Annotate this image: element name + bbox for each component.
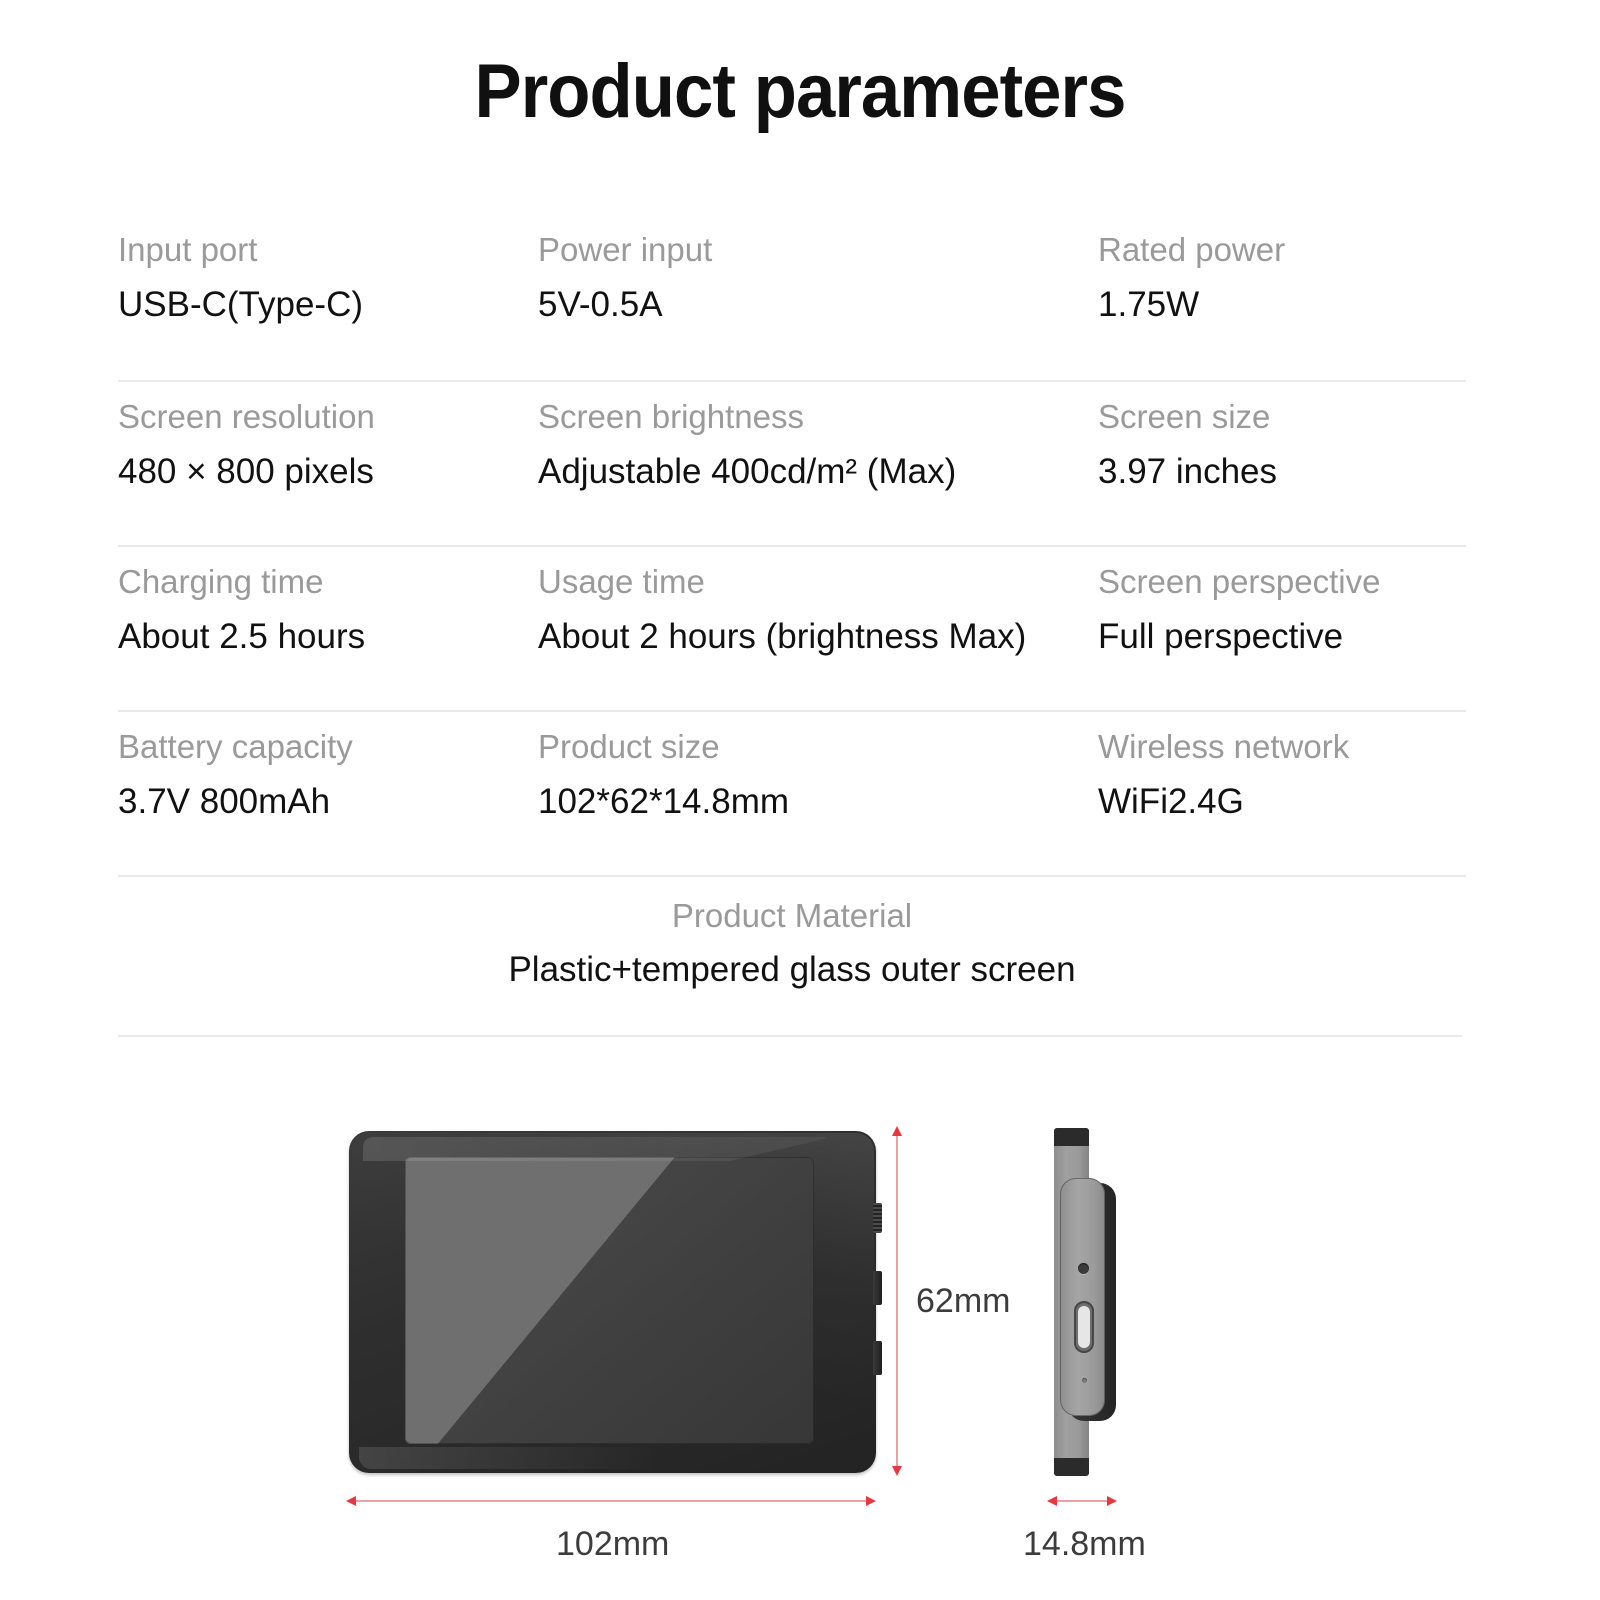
spec-cell-power-input: Power input 5V-0.5A (538, 215, 1098, 380)
table-row: Screen resolution 480 × 800 pixels Scree… (118, 380, 1466, 545)
spec-value: 480 × 800 pixels (118, 454, 538, 489)
spec-value: WiFi2.4G (1098, 784, 1466, 819)
spec-cell-usage-time: Usage time About 2 hours (brightness Max… (538, 547, 1098, 710)
page-title: Product parameters (56, 48, 1544, 135)
spec-cell-screen-brightness: Screen brightness Adjustable 400cd/m² (M… (538, 382, 1098, 545)
spec-label: Product size (538, 730, 1098, 763)
ribbed-button-icon (873, 1203, 882, 1233)
height-dimension-line (896, 1132, 898, 1472)
width-dimension-label: 102mm (556, 1525, 669, 1564)
usb-c-port-icon (1074, 1301, 1094, 1353)
spec-value: 1.75W (1098, 287, 1466, 322)
side-bump (1060, 1178, 1105, 1416)
spec-label: Screen resolution (118, 400, 538, 433)
table-bottom-divider (118, 1035, 1462, 1037)
reset-pinhole-icon (1082, 1378, 1087, 1383)
indicator-hole-icon (1078, 1263, 1089, 1274)
tablet-side-view (1048, 1128, 1120, 1476)
spec-value: About 2 hours (brightness Max) (538, 619, 1098, 654)
depth-dimension-label: 14.8mm (1023, 1525, 1146, 1564)
spec-value: 102*62*14.8mm (538, 784, 1098, 819)
spec-value: About 2.5 hours (118, 619, 538, 654)
height-dimension-arrow-bottom (892, 1466, 902, 1476)
spec-label: Screen perspective (1098, 565, 1466, 598)
spec-label: Screen brightness (538, 400, 1098, 433)
spec-label: Wireless network (1098, 730, 1466, 763)
spec-value: USB-C(Type-C) (118, 287, 538, 322)
spec-cell-rated-power: Rated power 1.75W (1098, 215, 1466, 380)
product-parameters-page: Product parameters Input port USB-C(Type… (0, 0, 1600, 1600)
table-row: Input port USB-C(Type-C) Power input 5V-… (118, 215, 1466, 380)
bottom-bezel-sheen (359, 1447, 659, 1469)
table-row: Charging time About 2.5 hours Usage time… (118, 545, 1466, 710)
spec-cell-charging-time: Charging time About 2.5 hours (118, 547, 538, 710)
spec-cell-input-port: Input port USB-C(Type-C) (118, 215, 538, 380)
spec-label: Screen size (1098, 400, 1466, 433)
spec-label: Input port (118, 233, 538, 266)
spec-cell-battery-capacity: Battery capacity 3.7V 800mAh (118, 712, 538, 875)
spec-value: 5V-0.5A (538, 287, 1098, 322)
spec-value: 3.7V 800mAh (118, 784, 538, 819)
plain-button-icon (873, 1341, 882, 1375)
spec-value: 3.97 inches (1098, 454, 1466, 489)
side-profile-top-cap (1054, 1128, 1089, 1146)
spec-cell-screen-size: Screen size 3.97 inches (1098, 382, 1466, 545)
spec-label: Usage time (538, 565, 1098, 598)
spec-label: Battery capacity (118, 730, 538, 763)
width-dimension-arrow-left (346, 1496, 356, 1506)
depth-dimension-arrow-left (1047, 1496, 1057, 1506)
table-row: Battery capacity 3.7V 800mAh Product siz… (118, 710, 1466, 875)
spec-label: Rated power (1098, 233, 1466, 266)
height-dimension-arrow-top (892, 1126, 902, 1136)
height-dimension-label: 62mm (916, 1282, 1010, 1321)
table-row-product-material: Product Material Plastic+tempered glass … (118, 875, 1466, 1030)
width-dimension-line (352, 1500, 872, 1502)
spec-value: Plastic+tempered glass outer screen (118, 952, 1466, 987)
tablet-screen (405, 1157, 814, 1444)
depth-dimension-line (1053, 1500, 1113, 1502)
spec-label: Power input (538, 233, 1098, 266)
width-dimension-arrow-right (866, 1496, 876, 1506)
spec-value: Full perspective (1098, 619, 1466, 654)
spec-label: Product Material (118, 899, 1466, 932)
side-profile-bottom-cap (1054, 1458, 1089, 1476)
plain-button-icon (873, 1271, 882, 1305)
product-illustration: 62mm 102mm 14.8mm (0, 1100, 1600, 1600)
spec-cell-wireless-network: Wireless network WiFi2.4G (1098, 712, 1466, 875)
usb-c-port-inner (1078, 1306, 1090, 1348)
spec-cell-screen-perspective: Screen perspective Full perspective (1098, 547, 1466, 710)
tablet-front-view (349, 1131, 876, 1473)
spec-cell-product-size: Product size 102*62*14.8mm (538, 712, 1098, 875)
spec-label: Charging time (118, 565, 538, 598)
spec-cell-screen-resolution: Screen resolution 480 × 800 pixels (118, 382, 538, 545)
spec-value: Adjustable 400cd/m² (Max) (538, 454, 1098, 489)
spec-table: Input port USB-C(Type-C) Power input 5V-… (118, 215, 1466, 1030)
depth-dimension-arrow-right (1107, 1496, 1117, 1506)
screen-edge (405, 1157, 814, 1444)
